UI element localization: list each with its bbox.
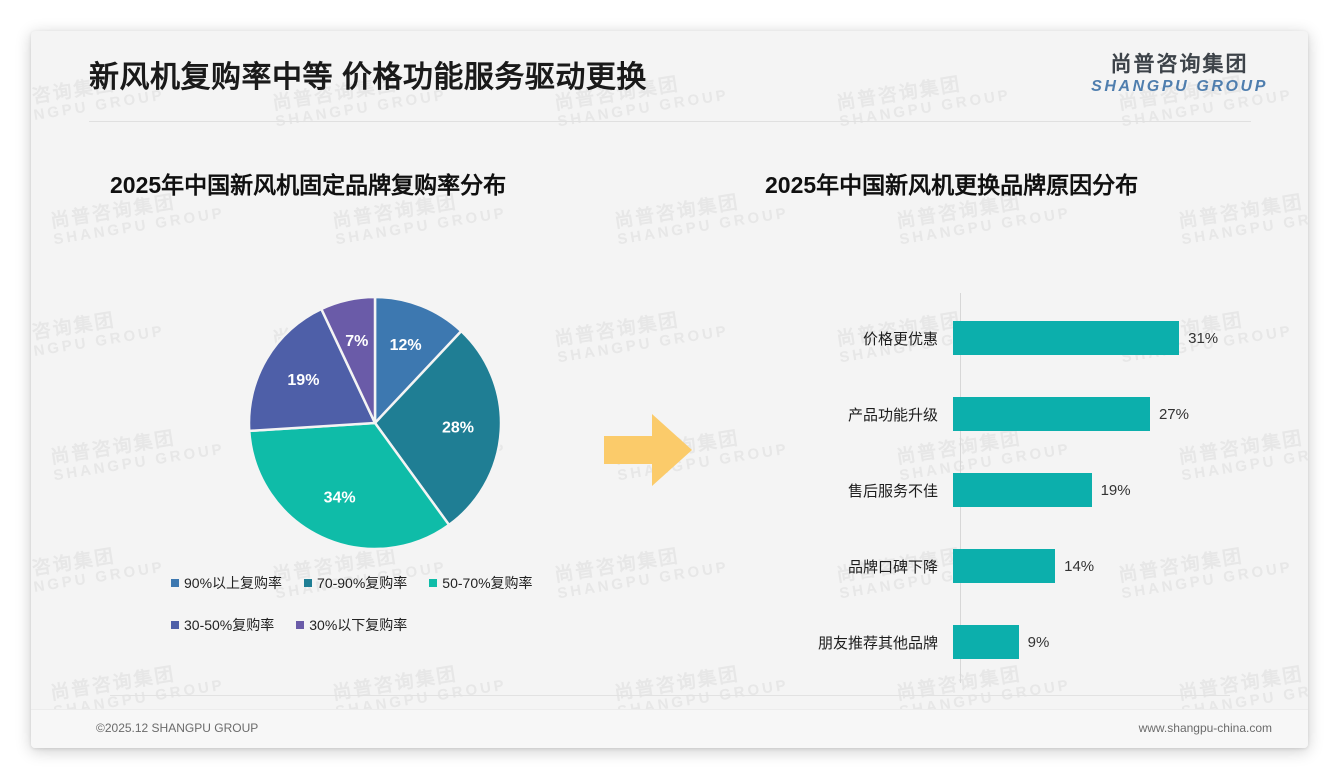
watermark-text: 尚普咨询集团SHANGPU GROUP — [1177, 186, 1308, 248]
bar-category-label: 售后服务不佳 — [801, 480, 953, 501]
bar-category-label: 品牌口碑下降 — [801, 556, 953, 577]
legend-swatch-icon — [296, 621, 304, 629]
legend-swatch-icon — [304, 579, 312, 587]
legend-item[interactable]: 90%以上复购率 — [171, 573, 282, 593]
watermark-text: 尚普咨询集团SHANGPU GROUP — [553, 304, 730, 366]
legend-swatch-icon — [171, 621, 179, 629]
pie-chart: 12%28%34%19%7% — [246, 294, 504, 552]
header-divider — [89, 121, 1251, 122]
brand-logo: 尚普咨询集团 SHANGPU GROUP — [1091, 53, 1268, 95]
bar-fill — [953, 549, 1055, 583]
slide-footer: ©2025.12 SHANGPU GROUP www.shangpu-china… — [31, 709, 1308, 748]
page-title: 新风机复购率中等 价格功能服务驱动更换 — [89, 52, 647, 96]
bar-value-label: 27% — [1159, 406, 1189, 423]
legend-label: 70-90%复购率 — [317, 573, 407, 593]
legend-item[interactable]: 50-70%复购率 — [429, 573, 532, 593]
watermark-text: 尚普咨询集团SHANGPU GROUP — [49, 422, 226, 484]
bar-chart-row: 品牌口碑下降14% — [801, 549, 1271, 583]
bar-fill — [953, 625, 1019, 659]
bar-chart-row: 售后服务不佳19% — [801, 473, 1271, 507]
watermark-text: 尚普咨询集团SHANGPU GROUP — [31, 304, 166, 366]
pie-chart-title: 2025年中国新风机固定品牌复购率分布 — [110, 166, 506, 200]
legend-item[interactable]: 30%以下复购率 — [296, 615, 407, 635]
legend-label: 30-50%复购率 — [184, 615, 274, 635]
bar-chart-row: 产品功能升级27% — [801, 397, 1271, 431]
pie-chart-legend: 90%以上复购率70-90%复购率50-70%复购率 30-50%复购率30%以… — [171, 573, 591, 657]
legend-row: 90%以上复购率70-90%复购率50-70%复购率 — [171, 573, 591, 593]
pie-slice-label: 12% — [390, 337, 422, 354]
pie-slice-label: 19% — [287, 372, 319, 389]
bar-chart-title: 2025年中国新风机更换品牌原因分布 — [765, 166, 1138, 200]
footer-website[interactable]: www.shangpu-china.com — [1139, 721, 1272, 735]
bar-category-label: 产品功能升级 — [801, 404, 953, 425]
slide-card: 尚普咨询集团SHANGPU GROUP尚普咨询集团SHANGPU GROUP尚普… — [31, 31, 1308, 748]
pie-chart-svg: 12%28%34%19%7% — [246, 294, 504, 552]
slide-header: 新风机复购率中等 价格功能服务驱动更换 尚普咨询集团 SHANGPU GROUP — [31, 31, 1308, 113]
bar-fill — [953, 397, 1150, 431]
arrow-right-icon — [604, 410, 692, 495]
legend-label: 30%以下复购率 — [309, 615, 407, 635]
legend-swatch-icon — [429, 579, 437, 587]
bar-chart-row: 价格更优惠31% — [801, 321, 1271, 355]
watermark-text: 尚普咨询集团SHANGPU GROUP — [613, 186, 790, 248]
bar-fill — [953, 473, 1092, 507]
legend-swatch-icon — [171, 579, 179, 587]
bar-category-label: 价格更优惠 — [801, 328, 953, 349]
pie-slice-label: 28% — [442, 419, 474, 436]
source-divider — [110, 695, 1230, 696]
bar-value-label: 31% — [1188, 330, 1218, 347]
legend-label: 90%以上复购率 — [184, 573, 282, 593]
bar-value-label: 9% — [1028, 634, 1050, 651]
bar-chart-row: 朋友推荐其他品牌9% — [801, 625, 1271, 659]
legend-item[interactable]: 70-90%复购率 — [304, 573, 407, 593]
bar-category-label: 朋友推荐其他品牌 — [801, 632, 953, 653]
pie-slice-label: 34% — [324, 489, 356, 506]
pie-slice-label: 7% — [345, 333, 368, 350]
bar-value-label: 19% — [1101, 482, 1131, 499]
bar-fill — [953, 321, 1179, 355]
watermark-text: 尚普咨询集团SHANGPU GROUP — [31, 540, 166, 602]
brand-name-cn: 尚普咨询集团 — [1091, 53, 1268, 77]
bar-value-label: 14% — [1064, 558, 1094, 575]
footer-copyright: ©2025.12 SHANGPU GROUP — [96, 721, 258, 735]
legend-row: 30-50%复购率30%以下复购率 — [171, 615, 591, 635]
legend-item[interactable]: 30-50%复购率 — [171, 615, 274, 635]
legend-label: 50-70%复购率 — [442, 573, 532, 593]
brand-name-en: SHANGPU GROUP — [1091, 78, 1268, 96]
bar-chart: 价格更优惠31%产品功能升级27%售后服务不佳19%品牌口碑下降14%朋友推荐其… — [801, 293, 1271, 685]
